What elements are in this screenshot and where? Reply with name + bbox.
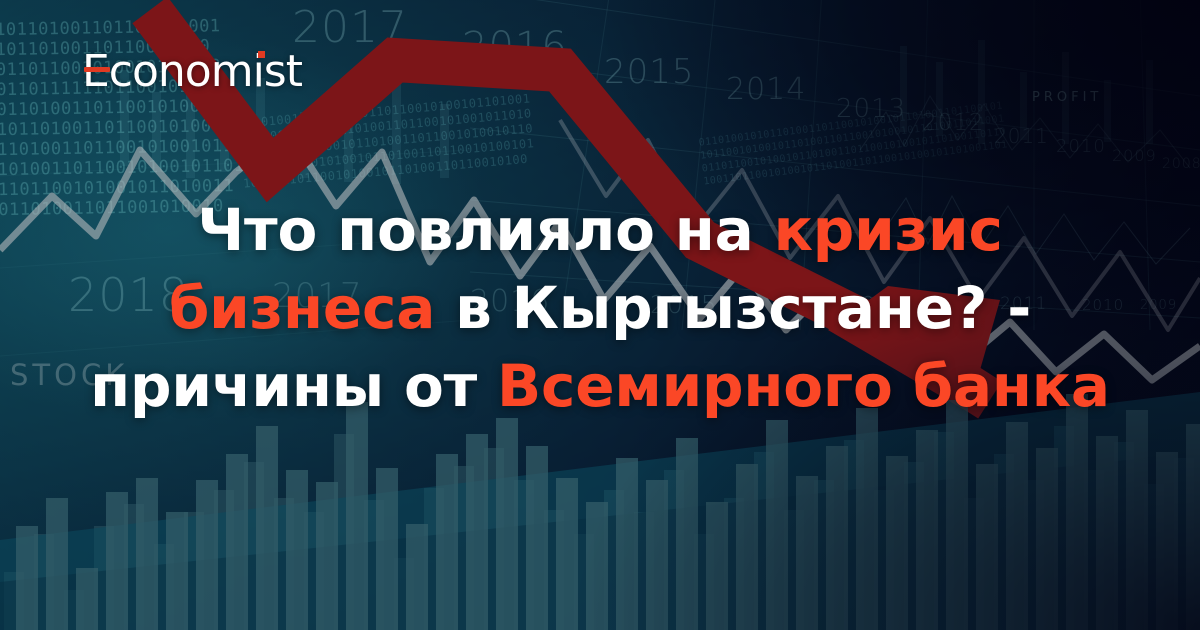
economist-logo-text: Economist [82, 50, 302, 94]
economist-logo[interactable]: Economist [82, 46, 302, 98]
page-title-segment-3: Всемирного банка [497, 352, 1110, 420]
logo-accent-dot-icon [258, 51, 265, 58]
page-title: Что повлияло на кризис бизнеса в Кыргызс… [0, 191, 1200, 425]
share-card: 0101101001101100101001 01011010011011001… [0, 0, 1200, 630]
logo-accent-bar-icon [84, 67, 110, 72]
page-title-segment-0: Что повлияло на [197, 196, 773, 264]
